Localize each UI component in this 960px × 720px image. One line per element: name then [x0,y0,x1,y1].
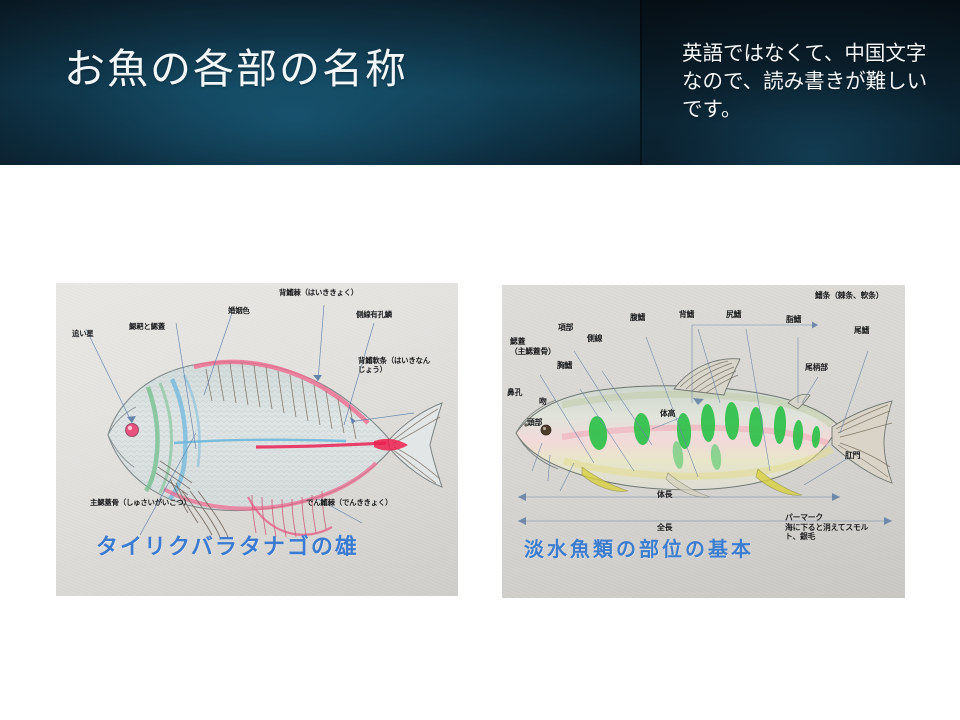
caption-right-photo: 淡水魚類の部位の基本 [524,533,754,562]
label-pelvic-fin: 腹鰭 [630,313,645,323]
label-caudal-peduncle: 尾柄部 [805,363,828,373]
label-dorsal-soft-ray: 背鰭軟条（はいきなん じょう） [358,356,430,375]
page-title: お魚の各部の名称 [64,44,624,95]
label-anus: 肛門 [845,451,860,461]
label-standard-length: 体長 [657,490,672,500]
label-nostril: 鼻孔 [507,388,522,398]
label-snout: 吻 [539,397,547,407]
label-anal-spine: でん鰭棘（でんききょく） [306,498,392,507]
label-dorsal-spine: 背鰭棘（はいききょく） [279,288,358,297]
label-fin-rays: 鰭条（棘条、軟条） [815,291,883,301]
label-nape: 項部 [558,323,573,333]
slide-header-band: お魚の各部の名称 英語ではなくて、中国文字なので、読み書きが難しいです。 [0,0,960,165]
header-note-text: 英語ではなくて、中国文字なので、読み書きが難しいです。 [682,40,930,124]
label-gill-raker-cover: 鰓耙と鰓蓋 [129,322,165,331]
label-main-opercle-bone: 主鰓蓋骨（しゅさいがいこつ） [90,498,191,507]
fish-diagram-right[interactable]: 鰓蓋 （主鰓蓋骨） 項部 側線 胸鰭 腹鰭 背鰭 尻鰭 脂鰭 尾鰭 鰭条（棘条、… [502,285,905,598]
label-nuptial-color: 婚姻色 [228,306,250,315]
label-head: 頭部 [527,418,542,428]
slide-content-area: 追い星 鰓耙と鰓蓋 婚姻色 背鰭棘（はいききょく） 側線有孔鱗 背鰭軟条（はいき… [0,165,960,720]
label-pectoral-fin: 胸鰭 [557,361,572,371]
label-caudal-fin: 尾鰭 [854,326,869,336]
label-anal-fin: 尻鰭 [726,310,741,320]
fish-diagram-left[interactable]: 追い星 鰓耙と鰓蓋 婚姻色 背鰭棘（はいききょく） 側線有孔鱗 背鰭軟条（はいき… [56,283,458,596]
label-parr-mark: パーマーク 海に下ると消えてスモル ト、銀毛 [785,513,868,542]
label-adipose-fin: 脂鰭 [786,315,801,325]
caption-left-photo: タイリクバラタナゴの雄 [96,529,359,561]
label-lateral-line-scales: 側線有孔鱗 [356,310,392,319]
label-oiboshi: 追い星 [72,329,94,338]
label-body-depth: 体高 [660,409,675,419]
label-opercle: 鰓蓋 （主鰓蓋骨） [510,337,556,356]
label-total-length: 全長 [657,523,672,533]
label-dorsal-fin: 背鰭 [679,310,694,320]
label-lateral-line: 側線 [587,334,602,344]
